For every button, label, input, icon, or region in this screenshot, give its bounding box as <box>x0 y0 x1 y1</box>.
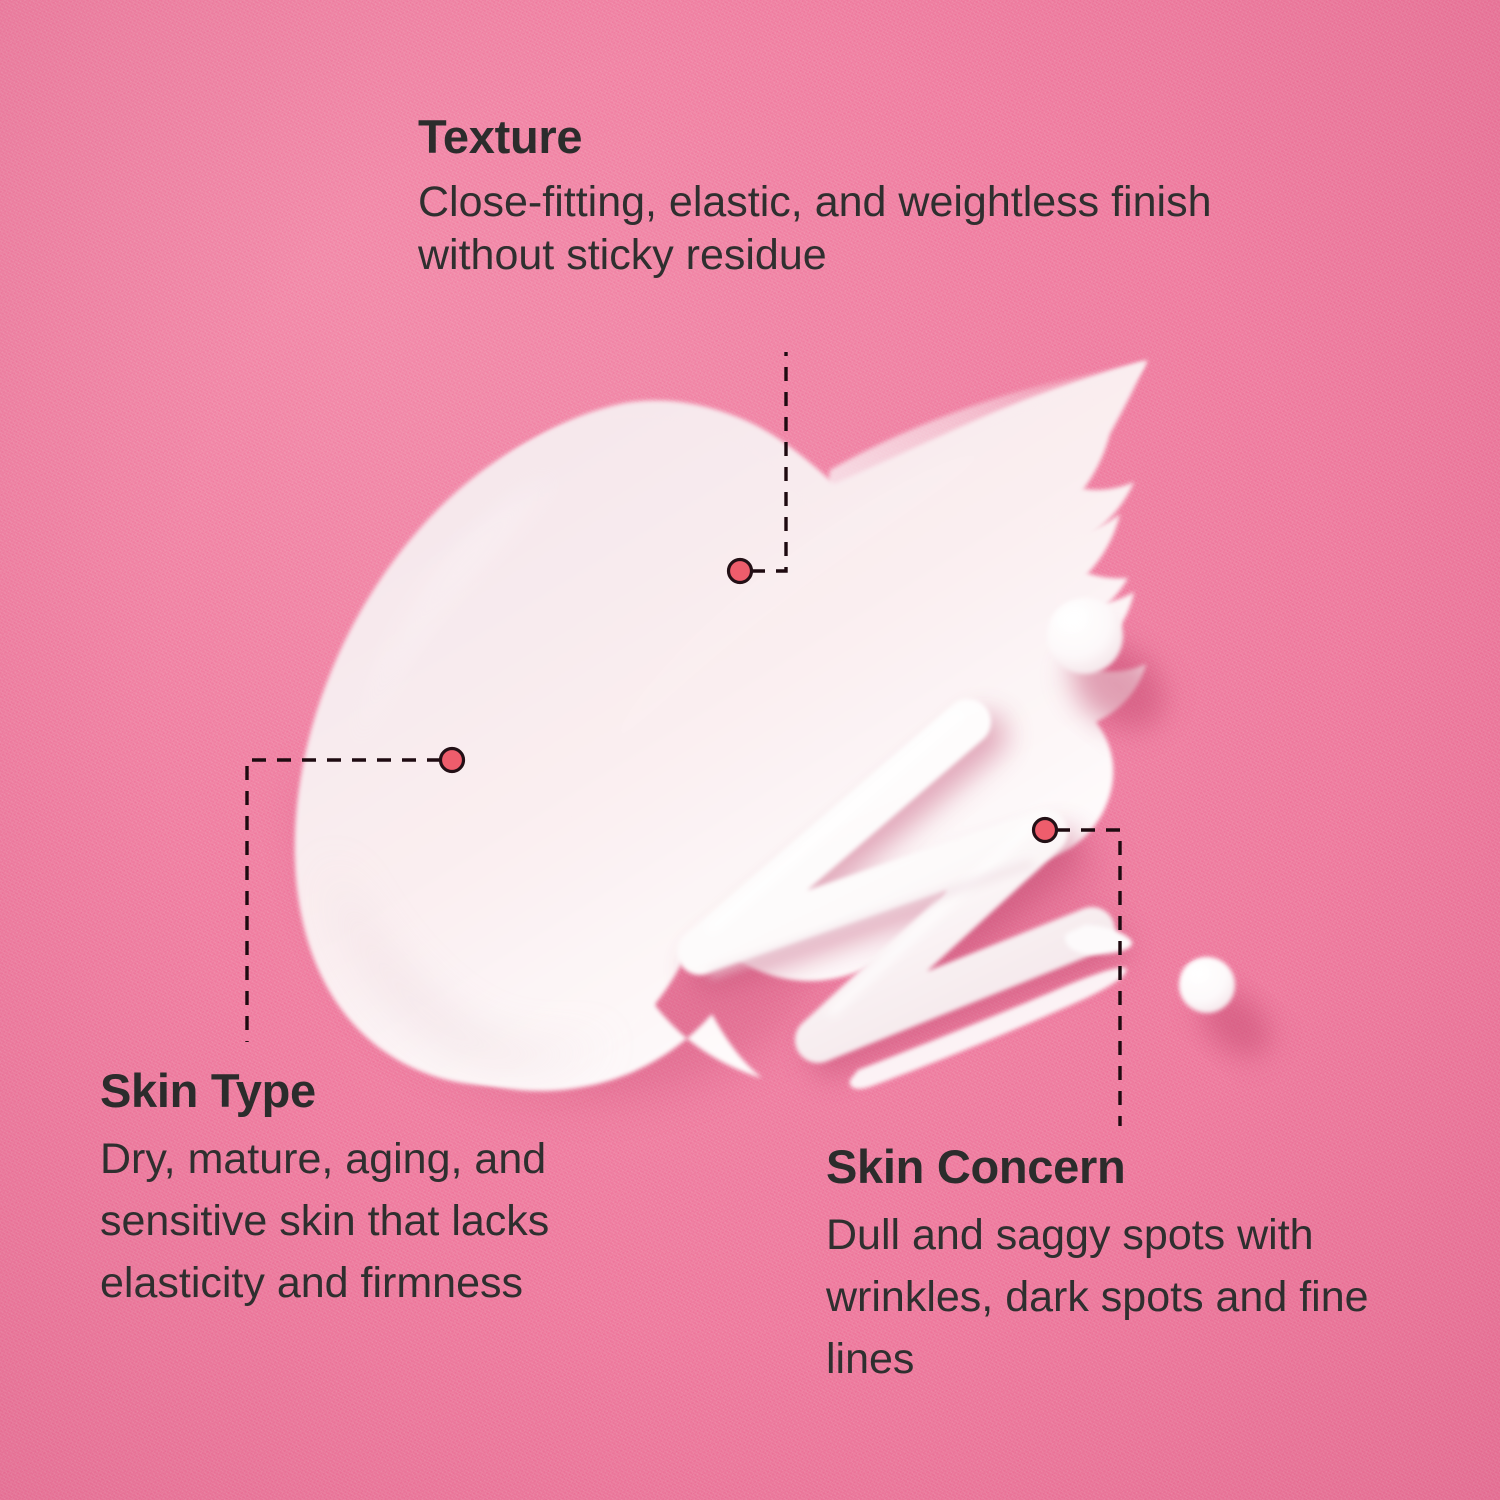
leader-line-skin-concern <box>1056 830 1120 1126</box>
callout-dot-texture[interactable] <box>729 560 752 583</box>
callout-skin-type[interactable] <box>247 749 464 1043</box>
skin-type-body: Dry, mature, aging, and sensitive skin t… <box>100 1128 620 1314</box>
callout-text-texture: Texture Close-fitting, elastic, and weig… <box>418 108 1318 282</box>
callout-skin-concern[interactable] <box>1034 819 1121 1127</box>
callout-texture[interactable] <box>729 352 787 583</box>
callout-dot-skin-type[interactable] <box>441 749 464 772</box>
leader-line-skin-type <box>247 760 441 1042</box>
skin-type-heading: Skin Type <box>100 1062 620 1120</box>
callout-text-skin-type: Skin Type Dry, mature, aging, and sensit… <box>100 1062 620 1314</box>
skin-concern-heading: Skin Concern <box>826 1138 1466 1196</box>
leader-line-texture <box>751 352 786 571</box>
callout-dot-skin-concern[interactable] <box>1034 819 1057 842</box>
product-texture-infographic: Texture Close-fitting, elastic, and weig… <box>0 0 1500 1500</box>
texture-body: Close-fitting, elastic, and weightless f… <box>418 176 1318 282</box>
texture-heading: Texture <box>418 108 1318 166</box>
skin-concern-body: Dull and saggy spots with wrinkles, dark… <box>826 1204 1466 1390</box>
callout-text-skin-concern: Skin Concern Dull and saggy spots with w… <box>826 1138 1466 1390</box>
